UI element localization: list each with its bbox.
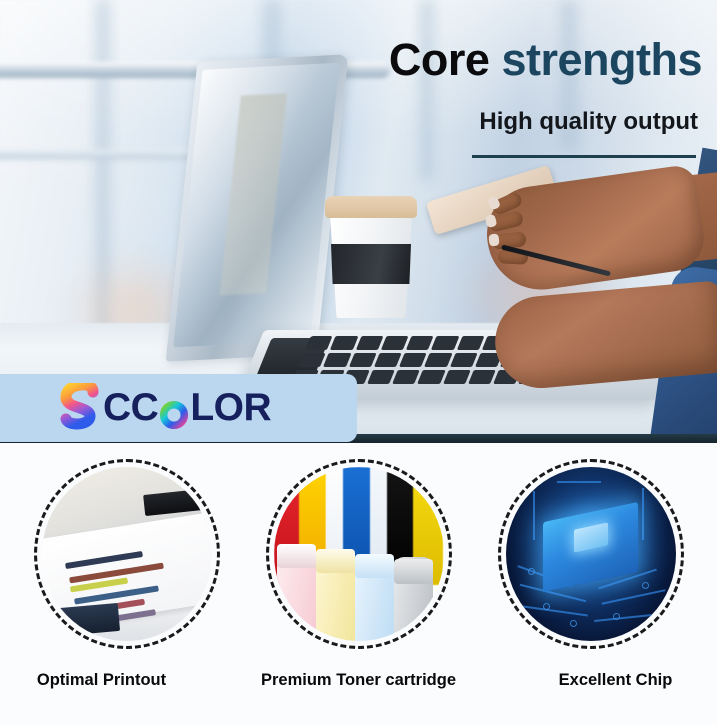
feature-caption: Optimal Printout [4,671,200,690]
coffee-cup [328,196,414,318]
brand-logo-banner: CCLOR [0,374,357,442]
cup-sleeve [331,244,411,284]
headline-divider [472,155,696,158]
cup-lid [325,196,417,218]
feature-optimal-printout [29,459,225,659]
headline: Core strengths [350,36,702,83]
toner-powder-image [274,467,444,641]
screen-reflection [220,93,288,295]
feature-circle-frame [34,459,220,649]
headline-accent: strengths [501,34,702,85]
cpu-chip-image [506,467,676,641]
feature-image-row [0,459,717,659]
brand-logo: CCLOR [58,383,271,433]
feature-circle-frame [498,459,684,649]
laptop-screen [173,63,339,348]
brand-wordmark: CCLOR [103,386,271,430]
window-mullion [420,0,434,180]
brand-wordmark-prefix: CC [103,386,158,430]
promo-banner-page: Core strengths High quality output [0,0,717,725]
printer-output-image [42,467,212,641]
feature-premium-toner-cartridge [261,459,457,659]
feature-excellent-chip [493,459,689,659]
hero-subtitle: High quality output [350,108,698,136]
feature-circle-frame [266,459,452,649]
feature-caption: Excellent Chip [518,671,714,690]
features-section: Optimal Printout Premium Toner cartridge… [0,443,717,725]
fingernail [488,234,499,247]
feature-caption-row: Optimal Printout Premium Toner cartridge… [0,671,717,690]
headline-primary: Core [389,34,490,85]
sccolor-s-icon [58,383,102,433]
brand-wordmark-suffix: LOR [190,386,271,430]
rainbow-ring-icon [159,396,189,426]
feature-caption: Premium Toner cartridge [236,671,482,690]
